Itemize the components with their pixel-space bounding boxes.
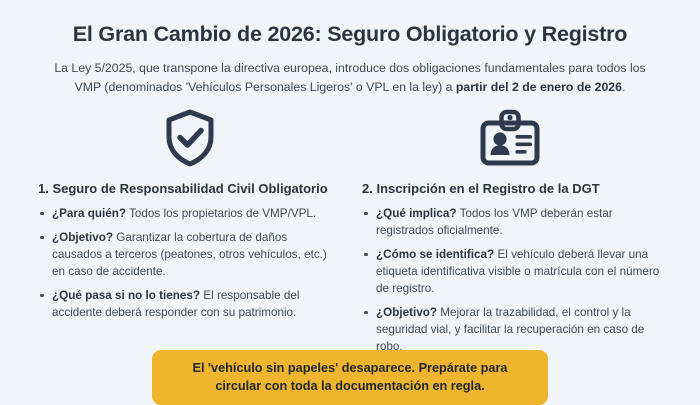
page-subtitle: La Ley 5/2025, que transpone la directiv… xyxy=(40,59,660,97)
banner-line-1: El 'vehículo sin papeles' desaparece. Pr… xyxy=(193,361,508,375)
bullet-list-2: ¿Qué implica? Todos los VMP deberán esta… xyxy=(362,206,662,356)
bullet-label: ¿Para quién? xyxy=(52,207,126,220)
columns-container: 1. Seguro de Responsabilidad Civil Oblig… xyxy=(30,181,670,363)
icon-cell-left xyxy=(30,107,350,169)
bullet-label: ¿Objetivo? xyxy=(376,306,437,319)
list-item: ¿Cómo se identifica? El vehículo deberá … xyxy=(362,247,662,298)
banner-line-2: circular con toda la documentación en re… xyxy=(215,379,484,393)
subtitle-emphasis: partir del 2 de enero de 2026 xyxy=(456,80,622,94)
list-item: ¿Para quién? Todos los propietarios de V… xyxy=(38,206,330,223)
column-registry: 2. Inscripción en el Registro de la DGT … xyxy=(350,181,662,363)
icon-cell-right xyxy=(350,107,670,169)
shield-check-icon xyxy=(163,108,217,168)
list-item: ¿Qué implica? Todos los VMP deberán esta… xyxy=(362,206,662,240)
column-heading-2: 2. Inscripción en el Registro de la DGT xyxy=(362,181,662,198)
subtitle-text-part2: . xyxy=(622,80,625,94)
bullet-text: Todos los propietarios de VMP/VPL. xyxy=(126,207,316,220)
list-item: ¿Objetivo? Garantizar la cobertura de da… xyxy=(38,230,330,281)
bullet-label: ¿Qué implica? xyxy=(376,207,457,220)
infographic-root: El Gran Cambio de 2026: Seguro Obligator… xyxy=(0,0,700,401)
id-card-icon xyxy=(479,108,541,168)
call-to-action-banner: El 'vehículo sin papeles' desaparece. Pr… xyxy=(152,350,548,405)
bullet-label: ¿Objetivo? xyxy=(52,231,113,244)
bullet-label: ¿Qué pasa si no lo tienes? xyxy=(52,289,200,302)
page-title: El Gran Cambio de 2026: Seguro Obligator… xyxy=(73,22,628,48)
icons-row xyxy=(30,107,670,169)
bullet-list-1: ¿Para quién? Todos los propietarios de V… xyxy=(38,206,330,322)
column-heading-1: 1. Seguro de Responsabilidad Civil Oblig… xyxy=(38,181,330,198)
column-insurance: 1. Seguro de Responsabilidad Civil Oblig… xyxy=(38,181,350,363)
list-item: ¿Qué pasa si no lo tienes? El responsabl… xyxy=(38,288,330,322)
list-item: ¿Objetivo? Mejorar la trazabilidad, el c… xyxy=(362,305,662,356)
bullet-label: ¿Cómo se identifica? xyxy=(376,248,494,261)
